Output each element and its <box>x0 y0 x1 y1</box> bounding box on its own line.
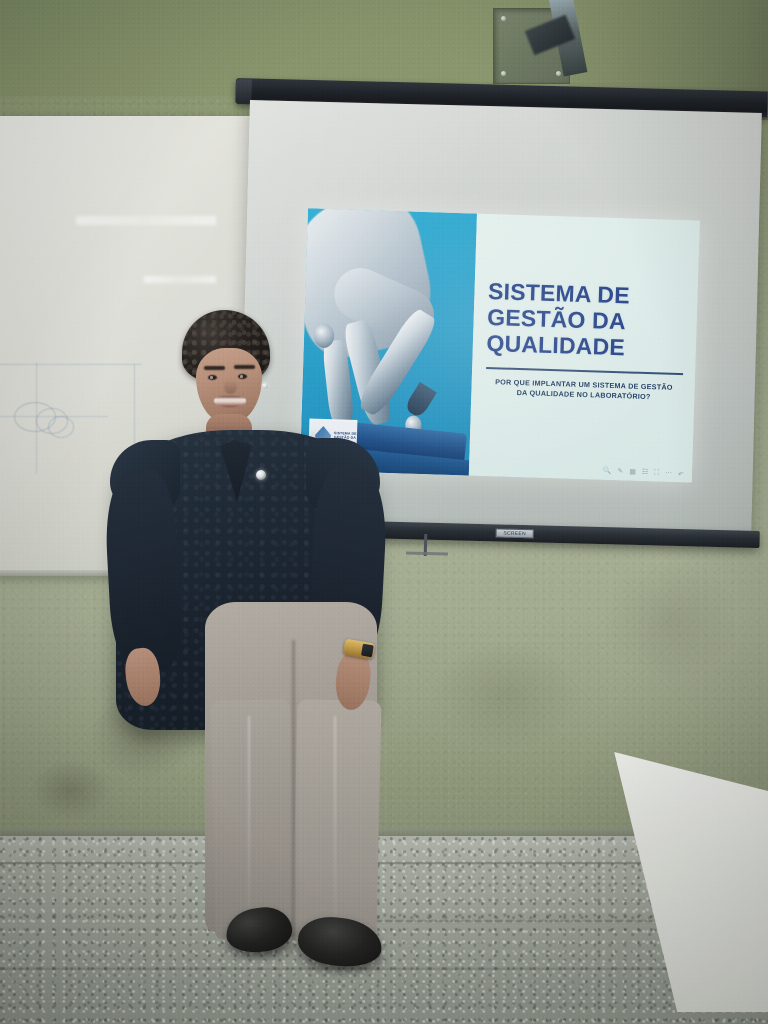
eyebrow-right <box>234 365 255 369</box>
eye-glint-right <box>240 375 243 378</box>
lapel-pin <box>256 470 266 480</box>
photo-scene: SISTEMA DE GESTÃO DA QUALIDADE SISTEMA D… <box>0 0 768 1024</box>
arm-left <box>103 468 183 671</box>
nose <box>224 380 237 394</box>
person <box>0 0 768 1024</box>
trouser-crease-right <box>334 716 336 926</box>
trouser-leg-left <box>211 699 296 939</box>
trouser-center-seam <box>292 640 295 940</box>
trouser-leg-right <box>293 699 382 939</box>
trouser-crease-left <box>248 716 250 926</box>
eyebrow-left <box>204 366 225 370</box>
earring <box>262 383 268 389</box>
watch-face <box>361 644 374 658</box>
eye-glint-left <box>210 376 213 379</box>
mouth-smiling <box>214 396 246 407</box>
